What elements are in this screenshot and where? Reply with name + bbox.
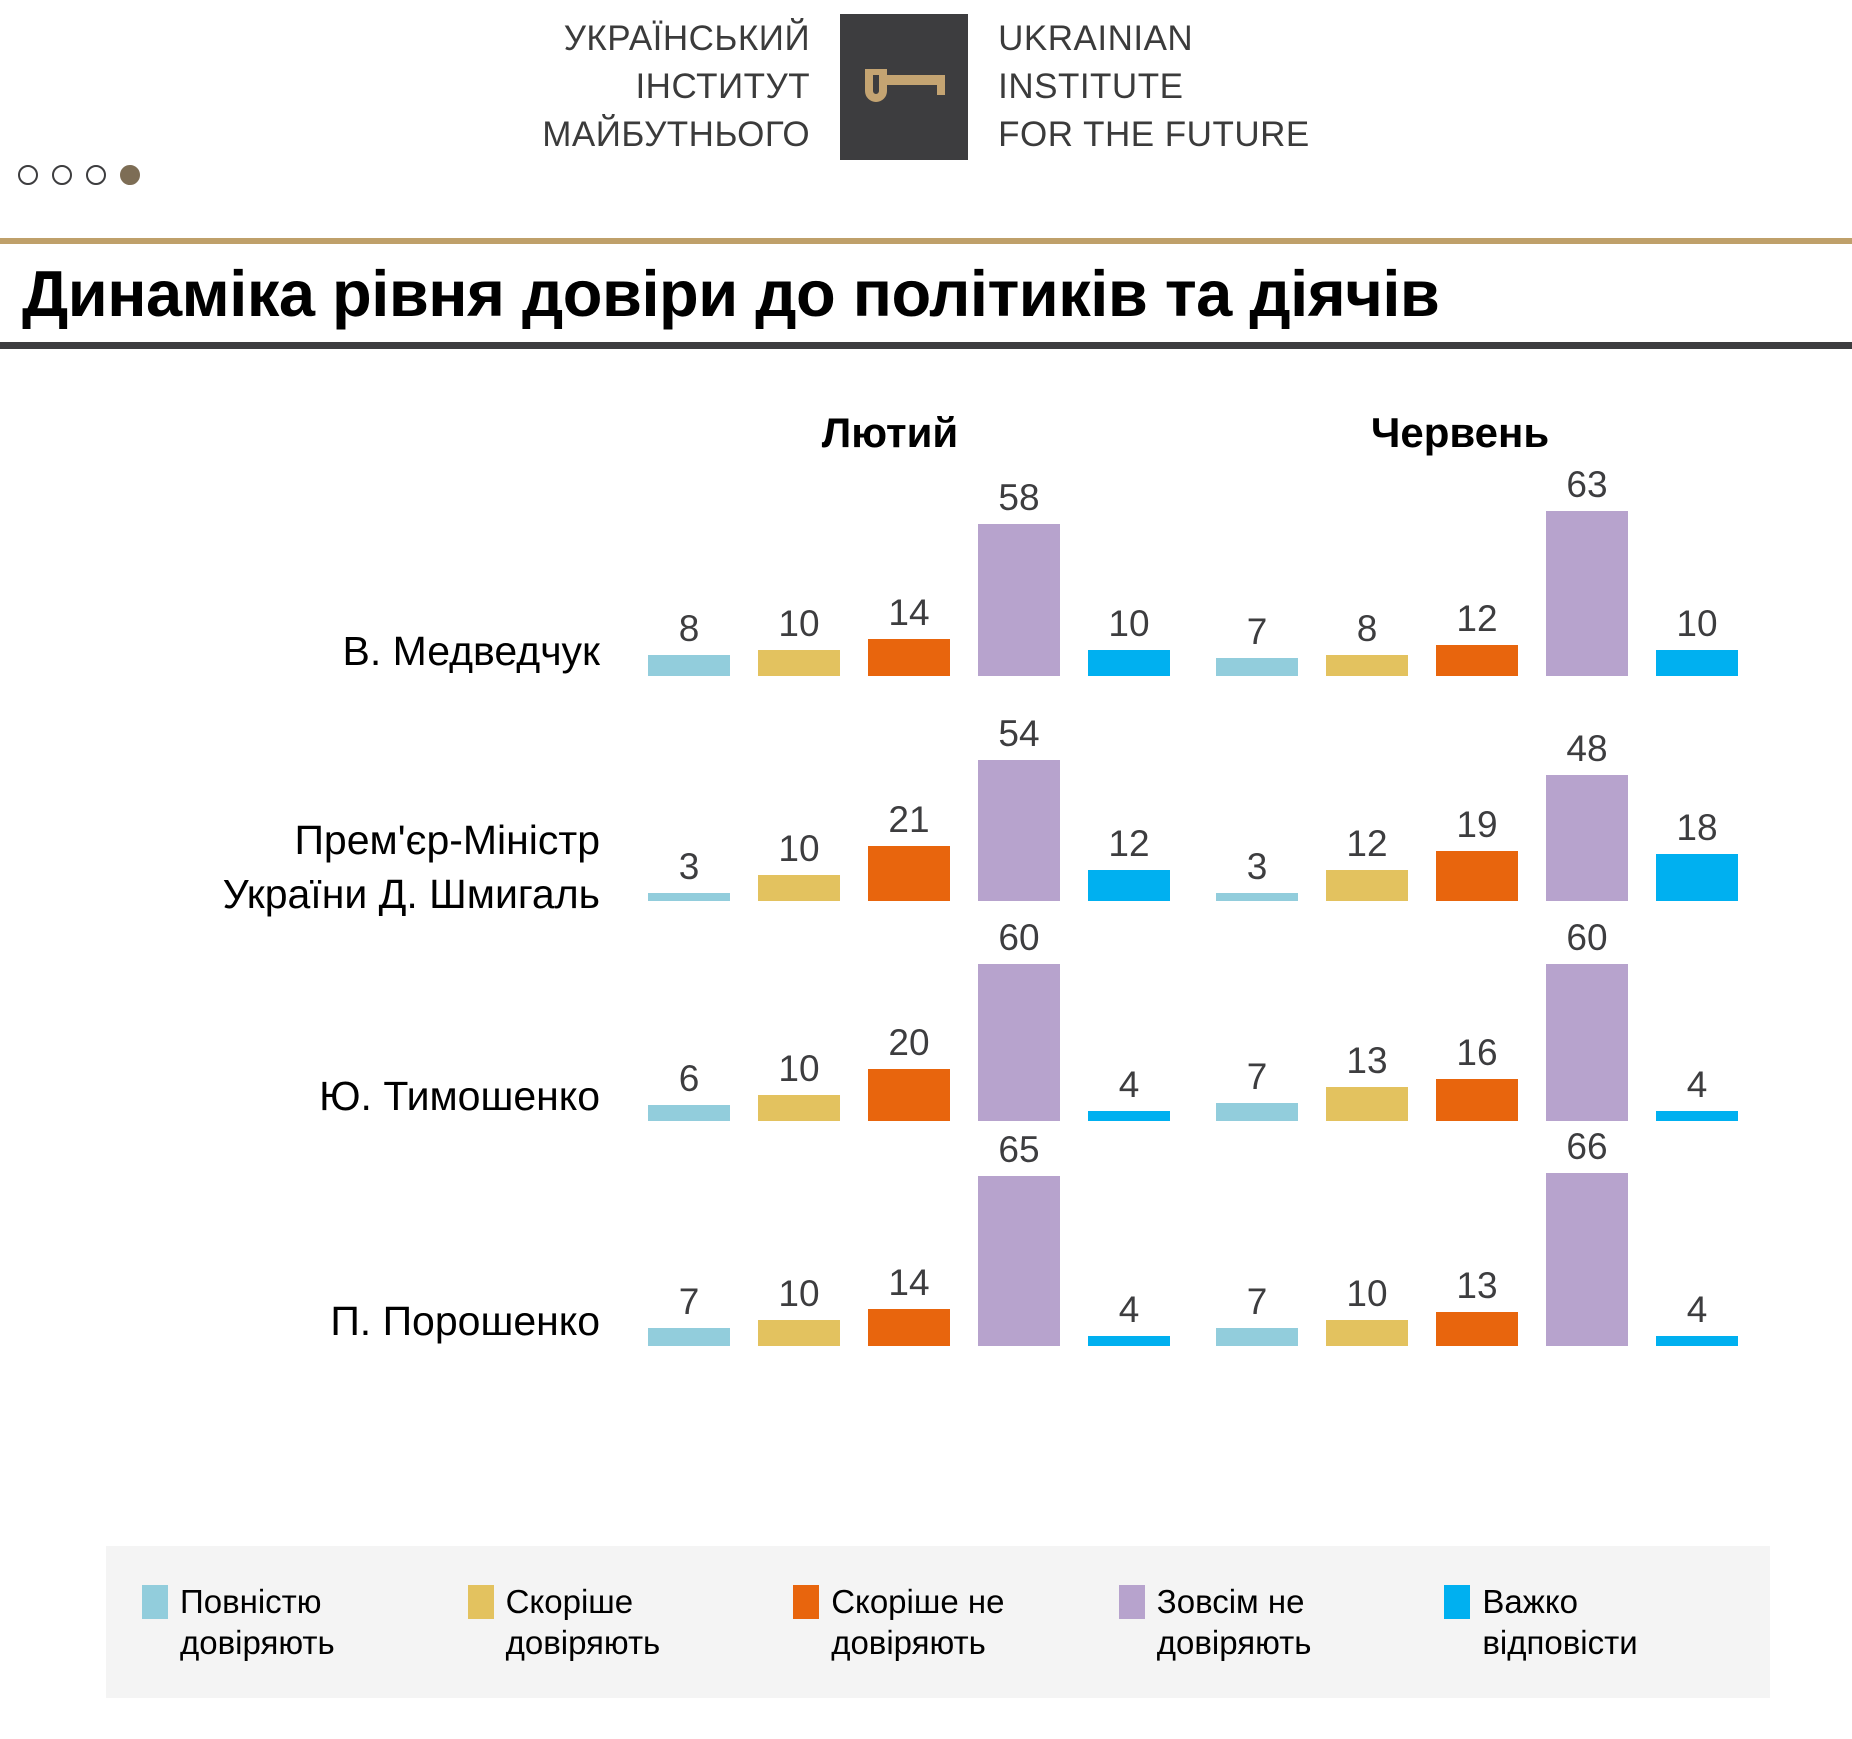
bar-value-label: 12 (1088, 824, 1170, 864)
bar-rect (758, 1095, 840, 1121)
bar-feb-1-3: 14 (868, 476, 950, 676)
bar-rect (1436, 1312, 1518, 1346)
bar-rect (1088, 870, 1170, 901)
bar-feb-4-1: 7 (648, 1146, 730, 1346)
brand-en-line-1: Ukrainian (998, 15, 1193, 63)
pager-dot-3[interactable] (86, 165, 106, 185)
bar-rect (1546, 964, 1628, 1121)
slide-root: Український Інститут Майбутнього Ukraini… (0, 0, 1852, 1739)
bar-rect (1216, 1103, 1298, 1121)
bar-rect (978, 1176, 1060, 1346)
bar-jun-2-2: 12 (1326, 701, 1408, 901)
bar-feb-2-2: 10 (758, 701, 840, 901)
bar-value-label: 10 (758, 1274, 840, 1314)
bar-value-label: 10 (758, 829, 840, 869)
bar-value-label: 10 (1326, 1274, 1408, 1314)
trust-dynamics-chart: Лютий Червень В. Медведчук81014581078126… (0, 349, 1852, 1739)
bar-rect (648, 1328, 730, 1346)
bar-value-label: 7 (1216, 612, 1298, 652)
brand-ua-line-2: Інститут (635, 63, 810, 111)
bar-value-label: 18 (1656, 808, 1738, 848)
bar-jun-3-4: 60 (1546, 921, 1628, 1121)
bar-rect (758, 875, 840, 901)
bar-rect (1436, 851, 1518, 901)
chart-row: Прем'єр-МіністрУкраїни Д. Шмигаль3102154… (0, 704, 1852, 929)
bar-feb-3-2: 10 (758, 921, 840, 1121)
bar-value-label: 12 (1326, 824, 1408, 864)
bar-value-label: 65 (978, 1130, 1060, 1170)
bar-jun-1-2: 8 (1326, 476, 1408, 676)
row-label-3: Ю. Тимошенко (0, 1071, 600, 1121)
bar-feb-1-5: 10 (1088, 476, 1170, 676)
legend-label: Скоріше не довіряють (831, 1581, 1004, 1663)
bar-rect (1436, 1079, 1518, 1121)
chart-row: П. Порошенко7101465471013664 (0, 1149, 1852, 1374)
bar-group-feb-3: 61020604 (648, 921, 1170, 1121)
bar-jun-3-3: 16 (1436, 921, 1518, 1121)
bar-group-feb-4: 71014654 (648, 1146, 1170, 1346)
bar-value-label: 54 (978, 714, 1060, 754)
bar-value-label: 48 (1546, 729, 1628, 769)
bar-value-label: 4 (1088, 1290, 1170, 1330)
bar-rect (1656, 1336, 1738, 1346)
chart-row: В. Медведчук81014581078126310 (0, 479, 1852, 704)
bar-rect (1656, 854, 1738, 901)
legend-swatch-icon (468, 1585, 494, 1619)
bar-rect (868, 1309, 950, 1346)
bar-feb-2-3: 21 (868, 701, 950, 901)
bar-jun-3-5: 4 (1656, 921, 1738, 1121)
bar-rect (1216, 658, 1298, 676)
legend-swatch-icon (1444, 1585, 1470, 1619)
bar-value-label: 10 (758, 604, 840, 644)
bar-group-jun-2: 312194818 (1216, 701, 1738, 901)
bar-jun-4-1: 7 (1216, 1146, 1298, 1346)
row-label-4: П. Порошенко (0, 1296, 600, 1346)
bar-rect (1326, 870, 1408, 901)
bar-rect (868, 1069, 950, 1121)
chart-legend: Повністю довіряютьСкоріше довіряютьСкорі… (106, 1546, 1770, 1698)
bar-feb-3-1: 6 (648, 921, 730, 1121)
bar-value-label: 4 (1656, 1290, 1738, 1330)
bar-jun-1-4: 63 (1546, 476, 1628, 676)
bar-feb-1-2: 10 (758, 476, 840, 676)
bar-jun-4-5: 4 (1656, 1146, 1738, 1346)
brand-text-ua: Український Інститут Майбутнього (542, 14, 840, 160)
bar-value-label: 8 (648, 609, 730, 649)
bar-jun-4-3: 13 (1436, 1146, 1518, 1346)
bar-rect (978, 760, 1060, 901)
bar-value-label: 10 (758, 1049, 840, 1089)
bar-feb-2-4: 54 (978, 701, 1060, 901)
bar-rect (758, 650, 840, 676)
bar-feb-2-1: 3 (648, 701, 730, 901)
bar-jun-2-1: 3 (1216, 701, 1298, 901)
bar-jun-4-2: 10 (1326, 1146, 1408, 1346)
bar-rect (648, 1105, 730, 1121)
divider-dark (0, 342, 1852, 349)
bar-value-label: 60 (978, 918, 1060, 958)
legend-label: Зовсім не довіряють (1157, 1581, 1312, 1663)
key-icon (840, 14, 968, 160)
bar-rect (1656, 650, 1738, 676)
bar-rect (1088, 1111, 1170, 1121)
bar-jun-3-1: 7 (1216, 921, 1298, 1121)
bar-feb-2-5: 12 (1088, 701, 1170, 901)
bar-jun-1-5: 10 (1656, 476, 1738, 676)
bar-rect (1656, 1111, 1738, 1121)
legend-label: Важко відповісти (1482, 1581, 1637, 1663)
bar-rect (1326, 1087, 1408, 1121)
brand-logo: Український Інститут Майбутнього Ukraini… (0, 14, 1852, 164)
bar-value-label: 21 (868, 800, 950, 840)
bar-feb-1-1: 8 (648, 476, 730, 676)
divider-gold (0, 238, 1852, 244)
legend-swatch-icon (793, 1585, 819, 1619)
bar-group-jun-3: 71316604 (1216, 921, 1738, 1121)
pager-dot-1[interactable] (18, 165, 38, 185)
bar-value-label: 10 (1656, 604, 1738, 644)
bar-rect (1436, 645, 1518, 676)
bar-feb-1-4: 58 (978, 476, 1060, 676)
pager-dot-4-active[interactable] (120, 165, 140, 185)
legend-item-2[interactable]: Скоріше довіряють (450, 1581, 776, 1663)
bar-value-label: 7 (1216, 1282, 1298, 1322)
bar-value-label: 13 (1326, 1041, 1408, 1081)
bar-feb-4-3: 14 (868, 1146, 950, 1346)
chart-rows: В. Медведчук81014581078126310Прем'єр-Мін… (0, 479, 1852, 1374)
bar-value-label: 12 (1436, 599, 1518, 639)
bar-value-label: 3 (1216, 847, 1298, 887)
bar-rect (1088, 650, 1170, 676)
bar-rect (758, 1320, 840, 1346)
bar-feb-3-3: 20 (868, 921, 950, 1121)
bar-group-jun-4: 71013664 (1216, 1146, 1738, 1346)
bar-feb-3-4: 60 (978, 921, 1060, 1121)
bar-rect (1088, 1336, 1170, 1346)
bar-rect (868, 639, 950, 676)
bar-group-feb-1: 810145810 (648, 476, 1170, 676)
row-label-1: В. Медведчук (0, 626, 600, 676)
bar-value-label: 14 (868, 1263, 950, 1303)
bar-rect (648, 655, 730, 676)
bar-value-label: 4 (1088, 1065, 1170, 1105)
brand-ua-line-3: Майбутнього (542, 111, 810, 159)
bar-rect (1216, 1328, 1298, 1346)
bar-jun-3-2: 13 (1326, 921, 1408, 1121)
brand-text-en: Ukrainian Institute for the Future (968, 14, 1310, 160)
legend-label: Скоріше довіряють (506, 1581, 661, 1663)
bar-value-label: 10 (1088, 604, 1170, 644)
legend-swatch-icon (142, 1585, 168, 1619)
bar-value-label: 3 (648, 847, 730, 887)
brand-en-line-3: for the Future (998, 111, 1310, 159)
bar-value-label: 20 (868, 1023, 950, 1063)
period-header-february: Лютий (620, 409, 1160, 457)
bar-rect (978, 524, 1060, 676)
bar-feb-4-4: 65 (978, 1146, 1060, 1346)
legend-item-5[interactable]: Важко відповісти (1426, 1581, 1752, 1663)
period-header-june: Червень (1190, 409, 1730, 457)
bar-value-label: 60 (1546, 918, 1628, 958)
bar-jun-2-3: 19 (1436, 701, 1518, 901)
bar-value-label: 4 (1656, 1065, 1738, 1105)
bar-value-label: 63 (1546, 465, 1628, 505)
bar-jun-1-1: 7 (1216, 476, 1298, 676)
bar-rect (978, 964, 1060, 1121)
legend-swatch-icon (1119, 1585, 1145, 1619)
bar-rect (1326, 655, 1408, 676)
period-headers: Лютий Червень (0, 409, 1852, 469)
bar-value-label: 14 (868, 593, 950, 633)
legend-item-4[interactable]: Зовсім не довіряють (1101, 1581, 1427, 1663)
bar-value-label: 16 (1436, 1033, 1518, 1073)
pager-dot-2[interactable] (52, 165, 72, 185)
pager-dots[interactable] (18, 165, 140, 185)
bar-rect (1546, 511, 1628, 676)
brand-ua-line-1: Український (564, 15, 810, 63)
bar-feb-3-5: 4 (1088, 921, 1170, 1121)
bar-rect (1216, 893, 1298, 901)
bar-value-label: 66 (1546, 1127, 1628, 1167)
bar-value-label: 13 (1436, 1266, 1518, 1306)
legend-label: Повністю довіряють (180, 1581, 335, 1663)
page-title: Динаміка рівня довіри до політиків та ді… (22, 248, 1832, 340)
bar-group-feb-2: 310215412 (648, 701, 1170, 901)
bar-jun-2-4: 48 (1546, 701, 1628, 901)
brand-en-line-2: Institute (998, 63, 1183, 111)
bar-value-label: 58 (978, 478, 1060, 518)
bar-rect (1546, 1173, 1628, 1346)
bar-value-label: 8 (1326, 609, 1408, 649)
bar-value-label: 7 (648, 1282, 730, 1322)
legend-item-3[interactable]: Скоріше не довіряють (775, 1581, 1101, 1663)
bar-value-label: 19 (1436, 805, 1518, 845)
bar-feb-4-2: 10 (758, 1146, 840, 1346)
bar-rect (868, 846, 950, 901)
legend-item-1[interactable]: Повністю довіряють (124, 1581, 450, 1663)
bar-rect (1326, 1320, 1408, 1346)
bar-rect (648, 893, 730, 901)
bar-jun-4-4: 66 (1546, 1146, 1628, 1346)
bar-value-label: 7 (1216, 1057, 1298, 1097)
bar-value-label: 6 (648, 1059, 730, 1099)
row-label-2: Прем'єр-МіністрУкраїни Д. Шмигаль (0, 813, 600, 921)
chart-row: Ю. Тимошенко6102060471316604 (0, 929, 1852, 1149)
bar-group-jun-1: 78126310 (1216, 476, 1738, 676)
bar-rect (1546, 775, 1628, 901)
bar-jun-2-5: 18 (1656, 701, 1738, 901)
bar-jun-1-3: 12 (1436, 476, 1518, 676)
bar-feb-4-5: 4 (1088, 1146, 1170, 1346)
